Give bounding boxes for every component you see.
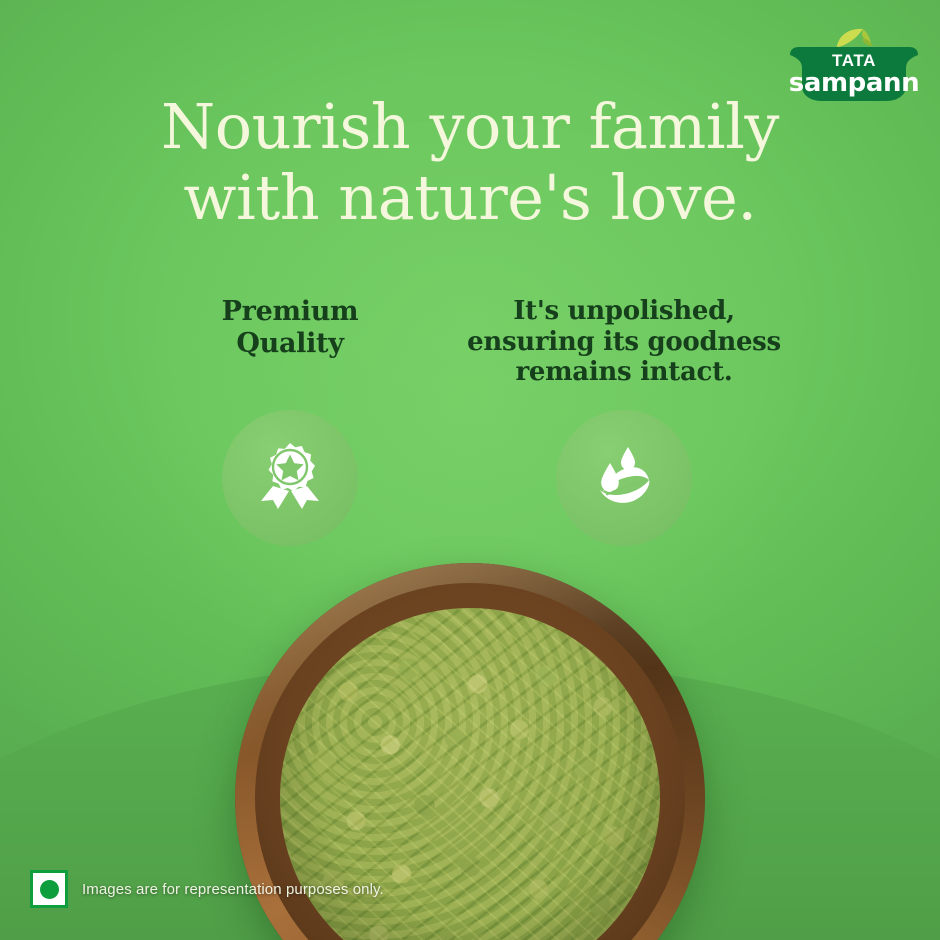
disclaimer-text: Images are for representation purposes o… bbox=[82, 881, 384, 898]
headline: Nourish your family with nature's love. bbox=[0, 92, 940, 233]
award-rosette-icon bbox=[251, 439, 329, 517]
vegetarian-dot bbox=[40, 880, 59, 899]
vegetarian-mark-icon bbox=[30, 870, 68, 908]
advertisement-creative: TATA sampann Nourish your family with na… bbox=[0, 0, 940, 940]
feature-premium-quality: Premium Quality bbox=[150, 296, 430, 360]
logo-tata-text: TATA bbox=[832, 52, 876, 69]
brand-logo[interactable]: TATA sampann bbox=[790, 26, 918, 102]
feature-list: Premium Quality It's unpolished, ensurin… bbox=[0, 296, 940, 556]
headline-line-1: Nourish your family bbox=[161, 90, 779, 163]
feature-icon-badge bbox=[222, 410, 358, 546]
feature-unpolished: It's unpolished, ensuring its goodness r… bbox=[454, 296, 794, 388]
feature-icon-badge bbox=[556, 410, 692, 546]
feature-title: It's unpolished, ensuring its goodness r… bbox=[454, 296, 794, 388]
headline-line-2: with nature's love. bbox=[0, 163, 940, 234]
feature-title: Premium Quality bbox=[150, 296, 430, 360]
footer: Images are for representation purposes o… bbox=[30, 870, 384, 908]
leaf-water-drop-icon bbox=[585, 439, 663, 517]
